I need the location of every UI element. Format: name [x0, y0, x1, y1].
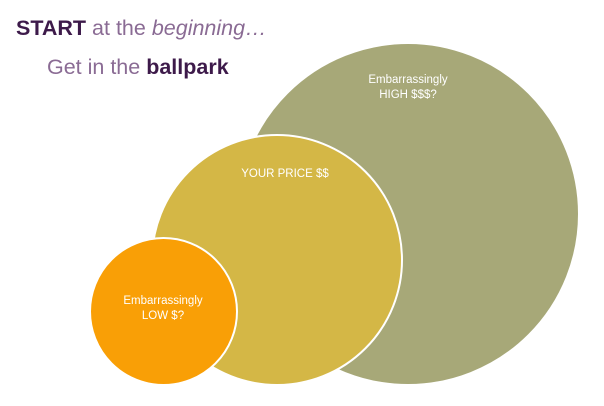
slide-canvas: Embarrassingly HIGH $$$? YOUR PRICE $$ E… [0, 0, 604, 406]
headline-beginning-text: beginning… [152, 16, 267, 40]
headline-get-in-the-text: Get in the [47, 55, 146, 79]
headline-ballpark-word: ballpark [146, 55, 228, 79]
headline-start-word: START [16, 16, 86, 40]
embarrassingly-low-circle [89, 237, 238, 386]
headline-line-1: START at the beginning… [16, 18, 267, 40]
headline-line-2: Get in the ballpark [47, 57, 229, 79]
headline-at-the-text: at the [86, 16, 152, 40]
